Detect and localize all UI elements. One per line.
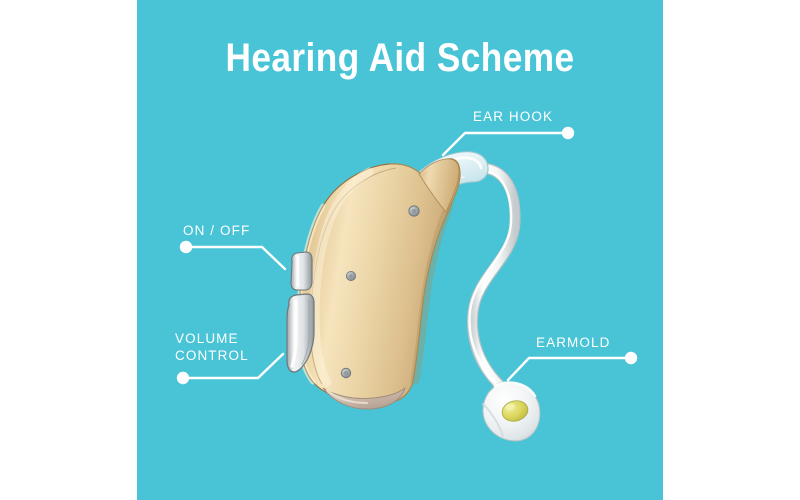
power-switch[interactable] [291,252,312,290]
sound-tube [469,168,515,393]
callout-label-volume-control-line1: VOLUME [175,330,285,347]
callout-label-volume-control-line2: CONTROL [175,347,285,364]
screw [409,206,419,216]
earmold [483,382,540,441]
callout-label-on-off: ON / OFF [183,222,250,239]
callout-label-volume-control: VOLUME CONTROL [175,330,285,364]
page-title: Hearing Aid Scheme [169,36,632,80]
shell-body [299,159,461,404]
illustration-canvas: Hearing Aid Scheme EAR HOOK ON / OFF VOL… [0,0,800,500]
callout-label-ear-hook: EAR HOOK [473,108,553,125]
teal-background-panel: Hearing Aid Scheme EAR HOOK ON / OFF VOL… [137,0,663,500]
callout-label-earmold: EARMOLD [536,334,610,351]
screw [346,271,355,280]
screw [341,368,351,378]
